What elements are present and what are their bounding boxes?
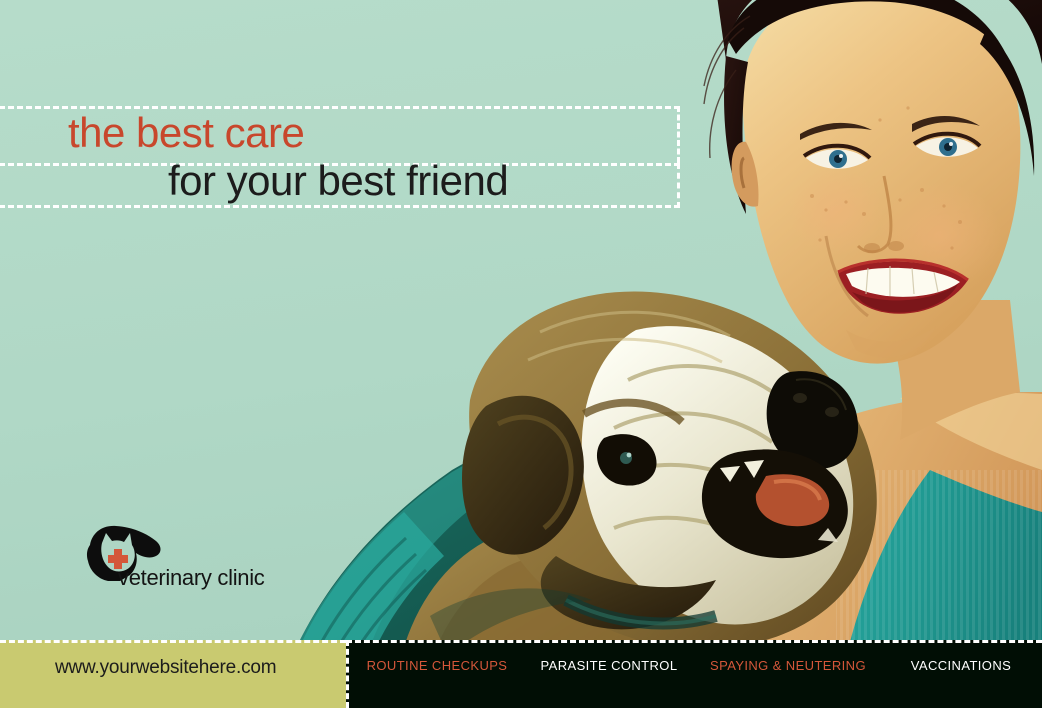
clinic-wordmark: veterinary clinic xyxy=(118,565,265,591)
service-item-vaccinations[interactable]: VACCINATIONS xyxy=(883,658,1039,673)
services-list: ROUTINE CHECKUPS PARASITE CONTROL SPAYIN… xyxy=(349,653,1039,677)
website-url[interactable]: www.yourwebsitehere.com xyxy=(55,657,276,679)
services-pane: ROUTINE CHECKUPS PARASITE CONTROL SPAYIN… xyxy=(346,640,1042,708)
veterinary-clinic-poster: the best care for your best friend veter… xyxy=(0,0,1042,708)
headline-line-1: the best care xyxy=(68,112,304,154)
headline-line-2: for your best friend xyxy=(168,160,508,202)
service-item-parasite-control[interactable]: PARASITE CONTROL xyxy=(525,658,693,673)
footer-bar: www.yourwebsitehere.com ROUTINE CHECKUPS… xyxy=(0,640,1042,708)
service-item-routine-checkups[interactable]: ROUTINE CHECKUPS xyxy=(349,658,525,673)
website-pane: www.yourwebsitehere.com xyxy=(0,640,346,708)
service-item-spaying-neutering[interactable]: SPAYING & NEUTERING xyxy=(693,658,883,673)
clinic-logo: veterinary clinic xyxy=(80,523,300,595)
